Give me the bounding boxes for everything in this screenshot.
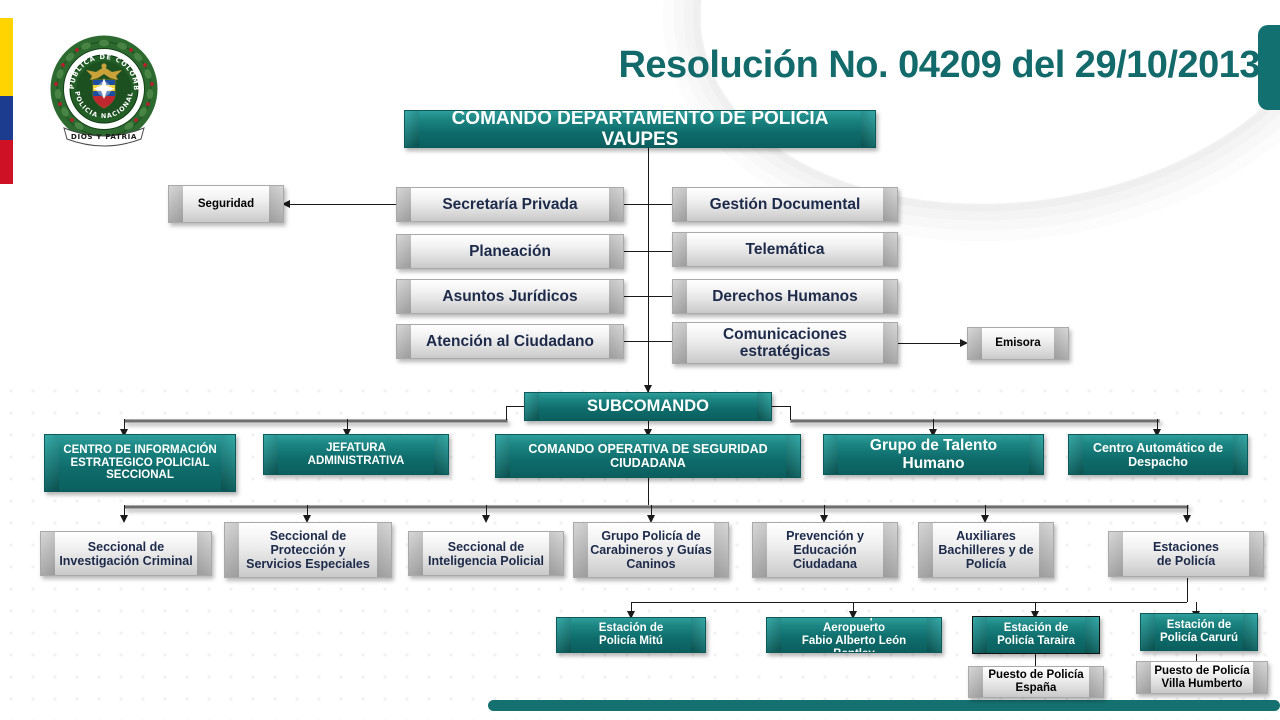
node-label-line1: JEFATURA bbox=[326, 442, 386, 454]
node-label-line1: Estación de policía Aeropuerto bbox=[802, 617, 906, 634]
arrow-sec-inteligencia bbox=[482, 515, 490, 523]
node-estacion-policia-taraira[interactable]: Estación de Policía Taraira bbox=[972, 616, 1100, 654]
node-label-line3: Ciudadana bbox=[793, 557, 857, 571]
node-seccional-proteccion-servicios-especiales[interactable]: Seccional de Protección y Servicios Espe… bbox=[224, 522, 392, 578]
node-label-line2: Despacho bbox=[1128, 455, 1188, 469]
connector-asuntos bbox=[622, 296, 649, 297]
node-label: Atención al Ciudadano bbox=[410, 333, 610, 350]
node-auxiliares-bachilleres-policia[interactable]: Auxiliares Bachilleres y de Policía bbox=[918, 522, 1054, 578]
node-label-line1: Estación de bbox=[1004, 622, 1069, 634]
connector-drop-right bbox=[790, 406, 791, 420]
node-gestion-documental[interactable]: Gestión Documental bbox=[672, 187, 898, 222]
connector-planeacion bbox=[622, 251, 649, 252]
node-label: Planeación bbox=[453, 243, 567, 260]
node-label-line1: Estación de bbox=[1167, 619, 1232, 631]
node-estacion-policia-mitu[interactable]: Estación de Policía Mitú bbox=[556, 617, 706, 653]
org-chart-canvas: REPUBLICA DE COLOMBIA POLICIA NACIONAL D… bbox=[0, 0, 1280, 720]
bottom-teal-bar bbox=[488, 700, 1280, 711]
node-label-line1: Seccional de bbox=[88, 540, 164, 554]
node-grupo-talento-humano[interactable]: Grupo de Talento Humano bbox=[823, 434, 1044, 475]
node-grupo-policia-carabineros-guias-caninos[interactable]: Grupo Policía de Carabineros y Guías Can… bbox=[573, 522, 729, 578]
drop-operativa-to-bus bbox=[648, 478, 649, 505]
node-label-line2: CIUDADANA bbox=[610, 456, 686, 470]
node-estacion-policia-caruru[interactable]: Estación de Policía Carurú bbox=[1140, 613, 1258, 651]
node-puesto-policia-espana[interactable]: Puesto de Policía España bbox=[968, 666, 1104, 698]
connector-atencion bbox=[622, 341, 649, 342]
node-seccional-investigacion-criminal[interactable]: Seccional de Investigación Criminal bbox=[40, 531, 212, 576]
node-label-line2: Policía Taraira bbox=[997, 635, 1075, 647]
node-label: Derechos Humanos bbox=[696, 288, 874, 305]
node-centro-automatico-despacho[interactable]: Centro Automático de Despacho bbox=[1068, 434, 1248, 475]
node-label-line2: Protección y bbox=[270, 543, 345, 557]
node-label-line2: ESTRATEGICO POLICIAL bbox=[70, 457, 209, 469]
bus-stations bbox=[631, 602, 1187, 603]
node-label-line1: Seccional de bbox=[448, 540, 524, 554]
bus-level4 bbox=[124, 505, 1189, 509]
node-label: Seguridad bbox=[182, 198, 270, 211]
right-edge-teal-bar bbox=[1258, 25, 1280, 110]
node-label-line1: Estación de bbox=[599, 622, 664, 634]
node-centro-informacion-estrategico[interactable]: CENTRO DE INFORMACIÓN ESTRATEGICO POLICI… bbox=[44, 434, 236, 492]
node-label-line3: Servicios Especiales bbox=[246, 557, 370, 571]
connector-emisora bbox=[898, 343, 962, 344]
node-label-line2: Policía Mitú bbox=[599, 635, 663, 647]
flag-stripe-red bbox=[0, 140, 13, 184]
node-label-line1: Puesto de Policía bbox=[988, 669, 1083, 681]
node-label-line1: Puesto de Policía bbox=[1154, 665, 1249, 677]
node-label-line2: Fabio Alberto León Bentley bbox=[802, 635, 906, 653]
node-label-line3: Caninos bbox=[626, 557, 675, 571]
node-label: Gestión Documental bbox=[694, 196, 877, 213]
node-label-line1: Centro Automático de bbox=[1093, 441, 1223, 455]
node-label: SUBCOMANDO bbox=[571, 397, 725, 415]
node-label-line2: Inteligencia Policial bbox=[428, 554, 544, 568]
node-prevencion-educacion-ciudadana[interactable]: Prevención y Educación Ciudadana bbox=[752, 522, 898, 578]
node-comando-operativa-seguridad-ciudadana[interactable]: COMANDO OPERATIVA DE SEGURIDAD CIUDADANA bbox=[495, 434, 801, 478]
node-subcomando[interactable]: SUBCOMANDO bbox=[524, 392, 772, 421]
node-label-line1: Estaciones bbox=[1153, 540, 1219, 554]
arrow-sec-investigacion bbox=[120, 515, 128, 523]
node-label: Grupo de Talento Humano bbox=[824, 437, 1043, 472]
node-atencion-al-ciudadano[interactable]: Atención al Ciudadano bbox=[396, 324, 624, 359]
arrow-estaciones bbox=[1183, 515, 1191, 523]
node-secretaria-privada[interactable]: Secretaría Privada bbox=[396, 187, 624, 222]
node-label-line2: estratégicas bbox=[740, 343, 830, 360]
node-label-line1: CENTRO DE INFORMACIÓN bbox=[63, 444, 216, 456]
node-label-line1: Comunicaciones bbox=[723, 326, 847, 343]
node-label-line1: COMANDO OPERATIVA DE SEGURIDAD bbox=[528, 442, 767, 456]
node-label-line2: ADMINISTRATIVA bbox=[308, 455, 405, 467]
node-label-line3: SECCIONAL bbox=[106, 469, 174, 481]
node-planeacion[interactable]: Planeación bbox=[396, 234, 624, 269]
node-estacion-policia-aeropuerto[interactable]: Estación de policía Aeropuerto Fabio Alb… bbox=[766, 617, 942, 653]
flag-stripe-yellow bbox=[0, 18, 13, 96]
node-label-line2: Carabineros y Guías bbox=[590, 543, 712, 557]
node-comando-departamento[interactable]: COMANDO DEPARTAMENTO DE POLICIA VAUPES bbox=[404, 110, 876, 148]
connector-secretaria bbox=[622, 204, 649, 205]
node-label-line2: Policía Carurú bbox=[1160, 632, 1238, 644]
node-seccional-inteligencia-policial[interactable]: Seccional de Inteligencia Policial bbox=[408, 531, 564, 576]
node-label-line2: Investigación Criminal bbox=[59, 554, 192, 568]
node-comunicaciones-estrategicas[interactable]: Comunicaciones estratégicas bbox=[672, 322, 898, 364]
connector-seguridad bbox=[290, 204, 400, 205]
page-title: Resolución No. 04209 del 29/10/2013 bbox=[560, 44, 1260, 87]
node-label-line2: de Policía bbox=[1157, 554, 1215, 568]
svg-text:DIOS Y PATRIA: DIOS Y PATRIA bbox=[71, 132, 137, 141]
connector-drop-left bbox=[506, 406, 507, 420]
node-emisora[interactable]: Emisora bbox=[967, 327, 1069, 360]
flag-stripe-blue bbox=[0, 96, 13, 140]
drop-estaciones-to-bus bbox=[1187, 578, 1188, 602]
bus-level3-right bbox=[790, 419, 1160, 423]
node-label-line1: Seccional de bbox=[270, 529, 346, 543]
node-label: Telemática bbox=[730, 241, 841, 258]
node-label: Emisora bbox=[979, 337, 1056, 350]
node-telematica[interactable]: Telemática bbox=[672, 232, 898, 267]
policia-nacional-emblem-icon: REPUBLICA DE COLOMBIA POLICIA NACIONAL D… bbox=[46, 34, 162, 156]
bus-level3-left bbox=[124, 419, 508, 423]
node-label-line1: Auxiliares bbox=[956, 529, 1016, 543]
node-label-line2: Bachilleres y de bbox=[938, 543, 1033, 557]
node-label: Secretaría Privada bbox=[426, 196, 593, 213]
node-label-line1: Grupo Policía de bbox=[601, 529, 700, 543]
node-label-line3: Policía bbox=[966, 557, 1006, 571]
node-puesto-policia-villa-humberto[interactable]: Puesto de Policía Villa Humberto bbox=[1136, 661, 1268, 694]
node-label-line2: Educación bbox=[793, 543, 856, 557]
node-estaciones-de-policia[interactable]: Estaciones de Policía bbox=[1108, 531, 1264, 577]
node-derechos-humanos[interactable]: Derechos Humanos bbox=[672, 279, 898, 314]
node-label: COMANDO DEPARTAMENTO DE POLICIA VAUPES bbox=[405, 110, 875, 148]
node-seguridad[interactable]: Seguridad bbox=[168, 185, 284, 223]
node-label-line1: Prevención y bbox=[786, 529, 864, 543]
node-asuntos-juridicos[interactable]: Asuntos Jurídicos bbox=[396, 279, 624, 314]
node-label-line2: España bbox=[1016, 682, 1057, 694]
node-label-line2: Villa Humberto bbox=[1162, 678, 1243, 690]
node-jefatura-administrativa[interactable]: JEFATURA ADMINISTRATIVA bbox=[263, 434, 449, 475]
connector-root-spine bbox=[648, 148, 649, 393]
node-label: Asuntos Jurídicos bbox=[426, 288, 593, 305]
